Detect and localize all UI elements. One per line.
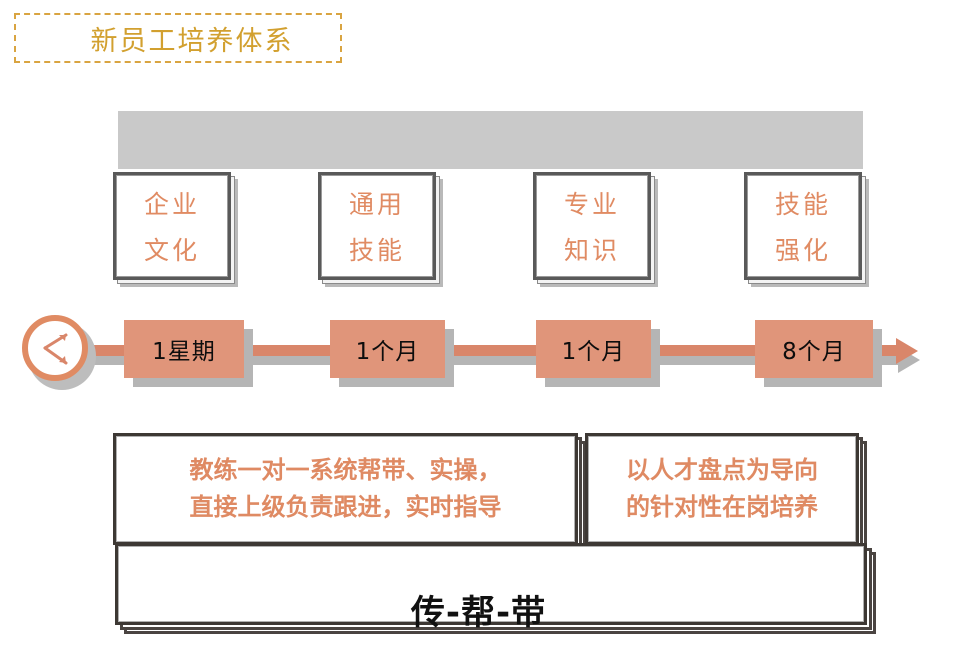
detail-text-line2: 的针对性在岗培养 bbox=[626, 489, 818, 526]
pillar-label-line1: 通用 bbox=[349, 185, 405, 221]
card-body: 通用 技能 bbox=[321, 175, 433, 277]
detail-text-line1: 教练一对一系统帮带、实操， bbox=[190, 452, 502, 489]
footer-label: 传-帮-带 bbox=[0, 585, 957, 634]
timeline-period-8-months[interactable]: 8个月 bbox=[755, 320, 873, 378]
chip: 1星期 bbox=[124, 320, 244, 378]
detail-card-talent-review-training[interactable]: 以人才盘点为导向 的针对性在岗培养 bbox=[585, 433, 859, 545]
pillar-label-line2: 文化 bbox=[144, 231, 200, 267]
timeline-period-1-week[interactable]: 1星期 bbox=[124, 320, 244, 378]
page-title-box: 新员工培养体系 bbox=[14, 13, 342, 63]
pillar-label-line1: 技能 bbox=[775, 185, 831, 221]
detail-body: 教练一对一系统帮带、实操， 直接上级负责跟进，实时指导 bbox=[116, 436, 575, 542]
card-body: 技能 强化 bbox=[747, 175, 859, 277]
pillar-label-line2: 知识 bbox=[564, 231, 620, 267]
chip: 1个月 bbox=[330, 320, 445, 378]
chip: 1个月 bbox=[536, 320, 651, 378]
detail-text-line2: 直接上级负责跟进，实时指导 bbox=[190, 489, 502, 526]
pillar-label-line2: 强化 bbox=[775, 231, 831, 267]
card-body: 企业 文化 bbox=[116, 175, 228, 277]
pillar-card-professional-knowledge[interactable]: 专业 知识 bbox=[533, 172, 651, 280]
pillar-label-line1: 专业 bbox=[564, 185, 620, 221]
period-label: 8个月 bbox=[782, 332, 846, 366]
pillar-card-general-skills[interactable]: 通用 技能 bbox=[318, 172, 436, 280]
page-title: 新员工培养体系 bbox=[63, 19, 294, 58]
header-banner-bar bbox=[118, 111, 863, 169]
timeline: 1星期 1个月 1个月 8个月 bbox=[0, 300, 957, 415]
timeline-period-1-month-a[interactable]: 1个月 bbox=[330, 320, 445, 378]
detail-text-line1: 以人才盘点为导向 bbox=[626, 452, 818, 489]
period-label: 1星期 bbox=[152, 332, 216, 366]
timeline-period-1-month-b[interactable]: 1个月 bbox=[536, 320, 651, 378]
detail-body: 以人才盘点为导向 的针对性在岗培养 bbox=[588, 436, 856, 542]
period-label: 1个月 bbox=[562, 332, 626, 366]
pillar-card-enterprise-culture[interactable]: 企业 文化 bbox=[113, 172, 231, 280]
pillar-card-skill-enhancement[interactable]: 技能 强化 bbox=[744, 172, 862, 280]
pillar-label-line1: 企业 bbox=[144, 185, 200, 221]
period-label: 1个月 bbox=[356, 332, 420, 366]
arrow-right-icon bbox=[896, 338, 918, 364]
clock-icon bbox=[21, 314, 89, 382]
detail-card-coach-mentoring[interactable]: 教练一对一系统帮带、实操， 直接上级负责跟进，实时指导 bbox=[113, 433, 578, 545]
card-body: 专业 知识 bbox=[536, 175, 648, 277]
pillar-label-line2: 技能 bbox=[349, 231, 405, 267]
chip: 8个月 bbox=[755, 320, 873, 378]
